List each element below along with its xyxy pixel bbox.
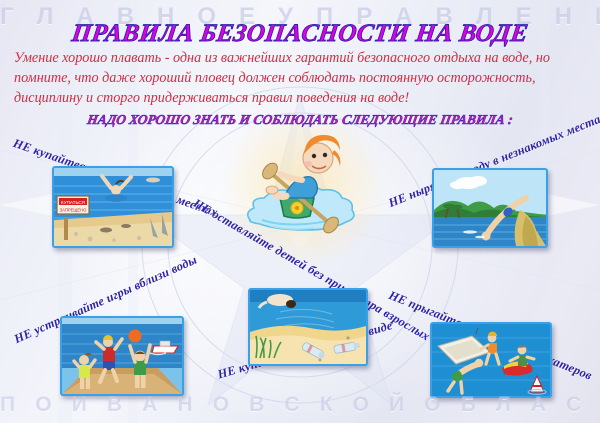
watermark-bottom: П О И В А Н О В С К О Й О Б Л А С Т И [0, 393, 600, 417]
subtitle: НАДО ХОРОШО ЗНАТЬ И СОБЛЮДАТЬ СЛЕДУЮЩИЕ … [0, 112, 600, 128]
center-illustration-kayak-boy [236, 128, 368, 246]
sign-line2: ЗАПРЕЩЕНО [60, 208, 88, 213]
beach-ball-icon [129, 330, 142, 343]
poster-canvas: Г Л А В Н О Е У П Р А В Л Е Н И Е ПРАВИЛ… [0, 0, 600, 423]
photo-forbidden-beach[interactable]: КУПАТЬСЯ ЗАПРЕЩЕНО [52, 166, 174, 248]
page-title: ПРАВИЛА БЕЗОПАСНОСТИ НА ВОДЕ [0, 20, 600, 48]
photo-drowned-bottles[interactable] [248, 288, 368, 366]
sign-line1: КУПАТЬСЯ [61, 200, 85, 205]
photo-boat-jumpers[interactable] [430, 322, 552, 398]
photo-ball-games[interactable] [60, 316, 184, 396]
intro-paragraph: Умение хорошо плавать - одна из важнейши… [14, 48, 590, 108]
photo-cliff-dive[interactable] [432, 168, 548, 248]
distant-swimmer-icon [146, 178, 160, 183]
